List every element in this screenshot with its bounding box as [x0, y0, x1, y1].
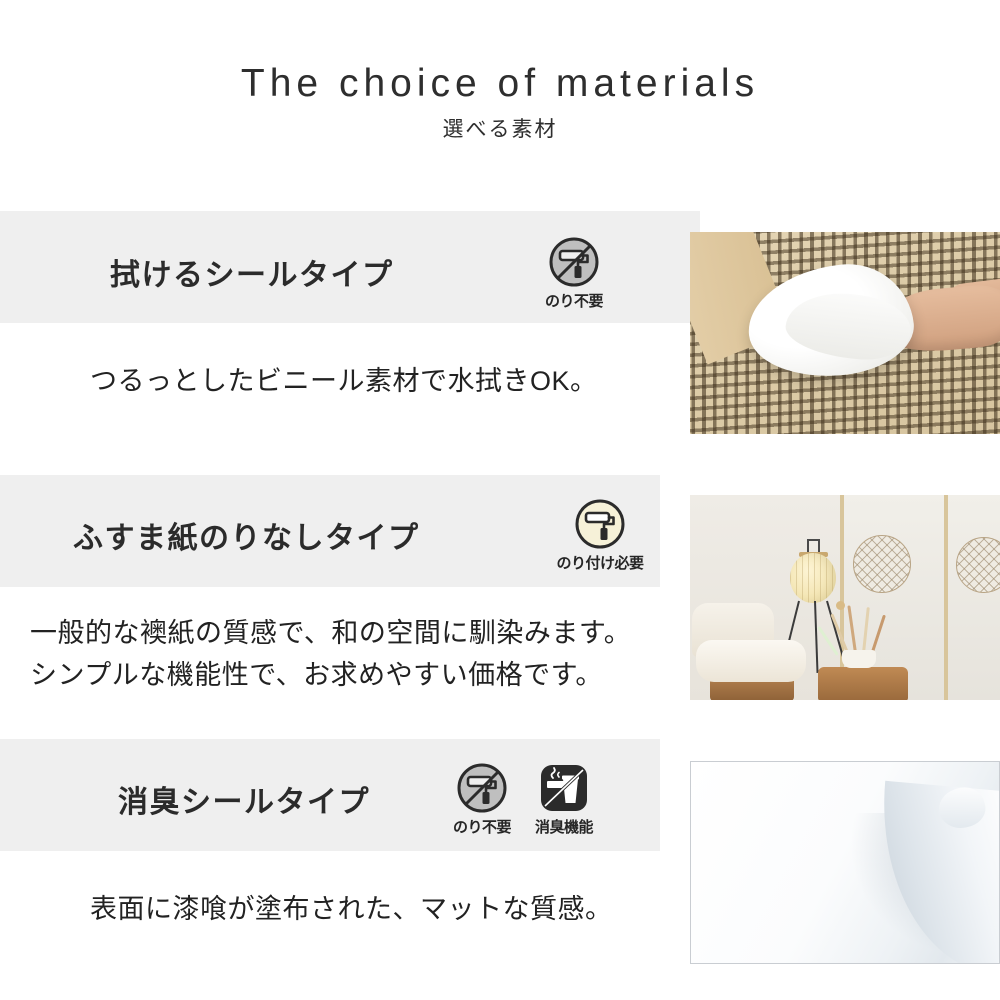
badge-glue-required-label: のり付け必要: [540, 552, 660, 573]
no-glue-roller-icon: [456, 762, 508, 814]
section-3-description-line-1: 表面に漆喰が塗布された、マットな質感。: [90, 888, 613, 930]
fusuma-panel-2: [948, 495, 1000, 700]
fusuma-knob: [836, 601, 845, 610]
section-2-title: ふすま紙のりなしタイプ: [73, 513, 420, 557]
page-title: The choice of materials: [0, 62, 1000, 106]
section-1-title: 拭けるシールタイプ: [110, 250, 394, 294]
section-2-badges: のり付け必要: [540, 498, 660, 573]
no-glue-roller-icon: [548, 236, 600, 288]
section-1-badges: のり不要: [540, 236, 608, 311]
section-2-description-line-2: シンプルな機能性で、お求めやすい価格です。: [30, 654, 603, 696]
badge-no-glue: のり不要: [540, 236, 608, 311]
section-3-title: 消臭シールタイプ: [118, 777, 370, 821]
boucle-chair-seat: [696, 640, 806, 682]
badge-glue-required: のり付け必要: [540, 498, 660, 573]
badge-deodorizing: 消臭機能: [530, 762, 598, 837]
badge-no-glue: のり不要: [448, 762, 516, 837]
lantern-ribs: [790, 553, 836, 603]
page-header: The choice of materials 選べる素材: [0, 0, 1000, 200]
fusuma-circle-lattice-1: [853, 535, 911, 593]
section-2-description-line-1: 一般的な襖紙の質感で、和の空間に馴染みます。: [30, 612, 631, 654]
section-3-badges: のり不要 消臭機能: [448, 762, 598, 837]
wooden-side-table: [818, 667, 908, 700]
photo-towel-wiping-woven-mat: [690, 232, 1000, 434]
page-subtitle: 選べる素材: [0, 113, 1000, 143]
badge-no-glue-label: のり不要: [540, 290, 608, 311]
badge-no-glue-label: のり不要: [448, 816, 516, 837]
badge-deodorizing-label: 消臭機能: [530, 816, 598, 837]
glue-required-roller-icon: [574, 498, 626, 550]
paper-lantern-lamp: [790, 553, 836, 603]
section-1-description-line-1: つるっとしたビニール素材で水拭きOK。: [90, 360, 598, 402]
deodorizing-function-icon: [538, 762, 590, 814]
photo-curling-white-paper-sheet: [690, 761, 1000, 964]
photo-japanese-interior-room: [690, 495, 1000, 700]
page-root: The choice of materials 選べる素材 拭けるシールタイプ …: [0, 0, 1000, 1000]
plant-pot: [842, 650, 876, 668]
